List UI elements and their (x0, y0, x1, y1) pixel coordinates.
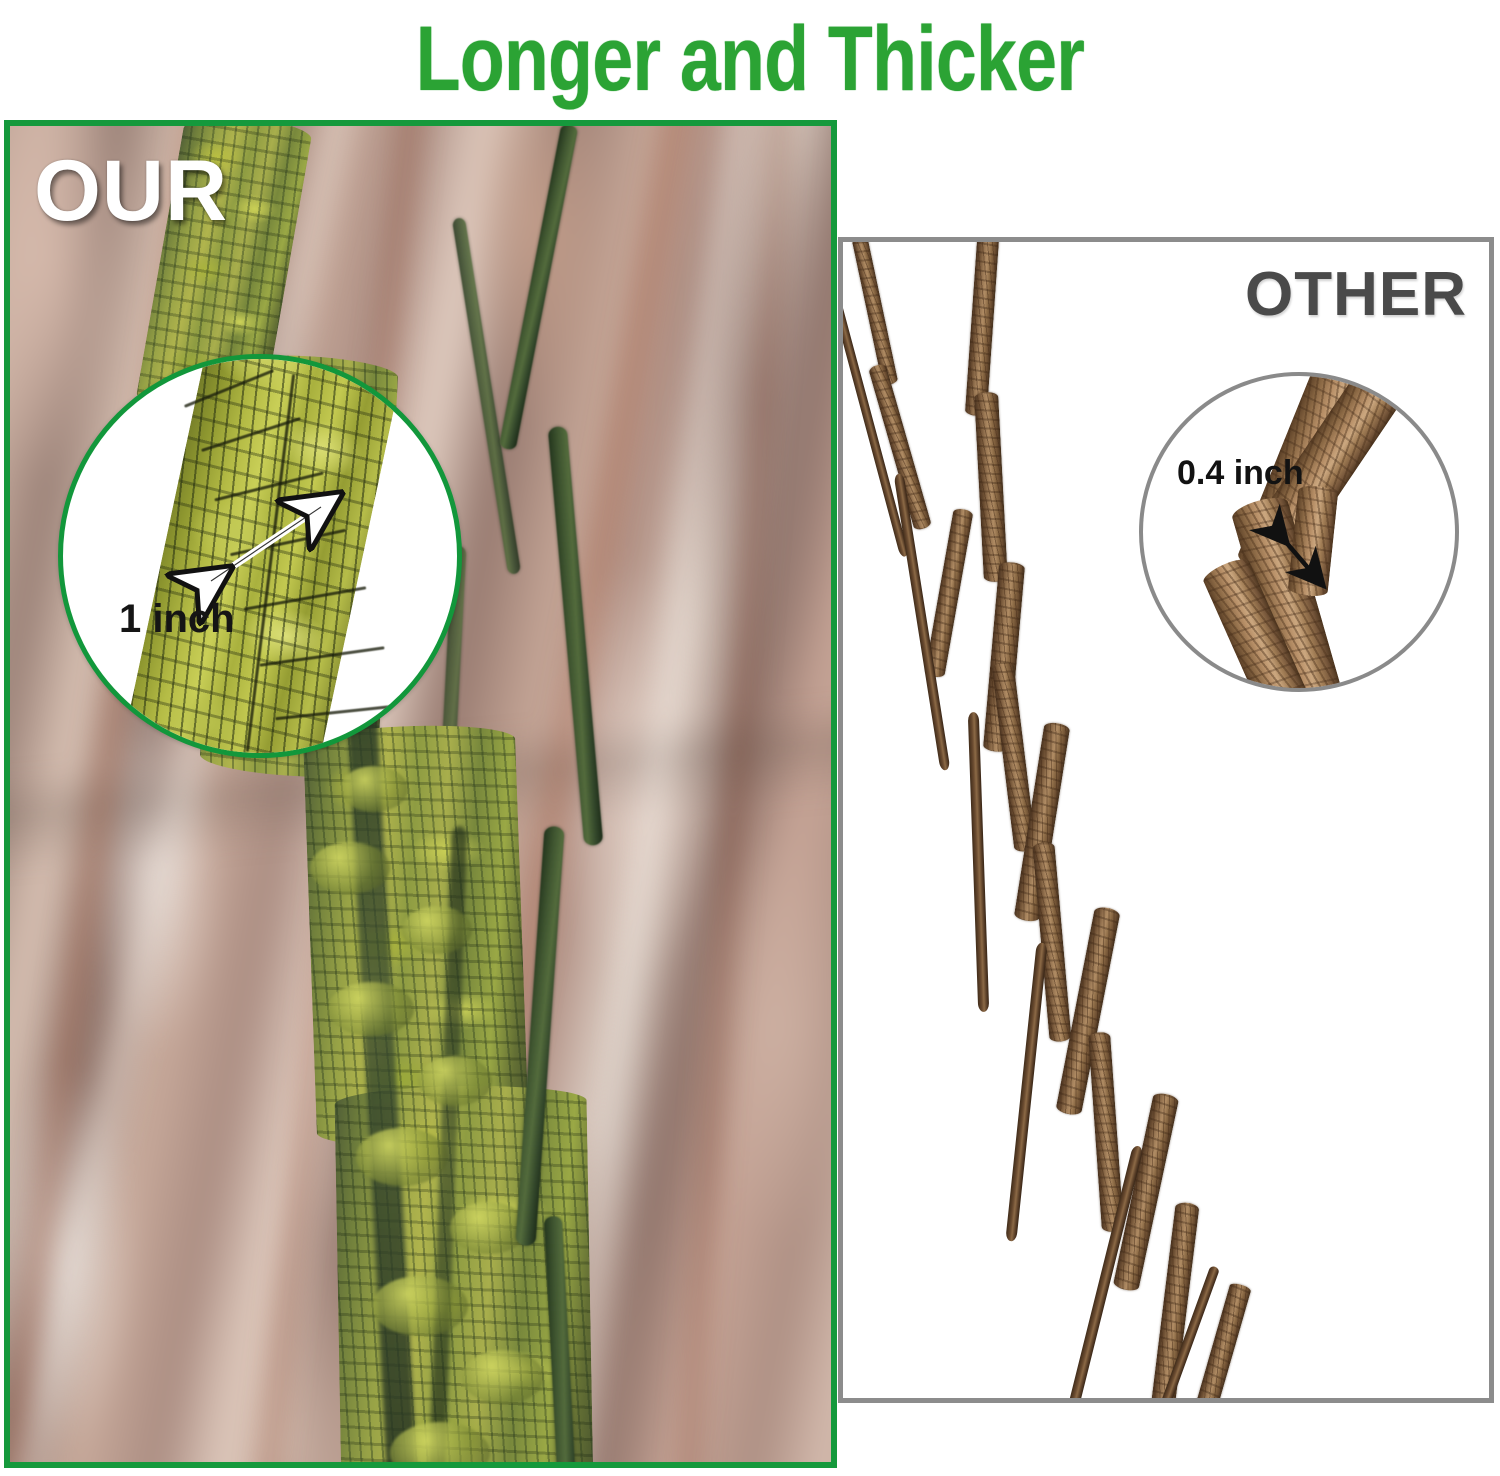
vine-lump (356, 1128, 448, 1186)
page-title: Longer and Thicker (416, 13, 1085, 105)
other-product-panel: OTHER 0.4 inch (838, 237, 1494, 1403)
vine-lump (402, 906, 472, 954)
vine-lump (372, 1276, 468, 1336)
vine-lump (328, 982, 414, 1036)
vine-lump (340, 766, 408, 812)
other-label: OTHER (1245, 264, 1467, 326)
brown-vine-strand (852, 237, 899, 386)
other-measurement-label: 0.4 inch (1177, 456, 1304, 490)
brown-vine-thin-strand (968, 712, 989, 1012)
vine-lump (418, 1056, 492, 1106)
our-label: OUR (34, 148, 228, 234)
other-magnifier-circle: 0.4 inch (1139, 372, 1459, 692)
our-measurement-label: 1 inch (119, 599, 235, 639)
brown-vine-thin-strand (1005, 942, 1047, 1242)
brown-vine-strand (974, 392, 1008, 583)
brown-vine-strand (965, 237, 1000, 417)
our-product-photo (10, 126, 831, 1462)
our-product-panel: OUR 1 inch (4, 120, 837, 1468)
magnified-green-vine (105, 354, 413, 758)
vine-lump (310, 842, 390, 894)
vine-lump (462, 1350, 544, 1404)
title-banner: Longer and Thicker (0, 0, 1500, 118)
our-magnifier-circle: 1 inch (58, 354, 462, 758)
